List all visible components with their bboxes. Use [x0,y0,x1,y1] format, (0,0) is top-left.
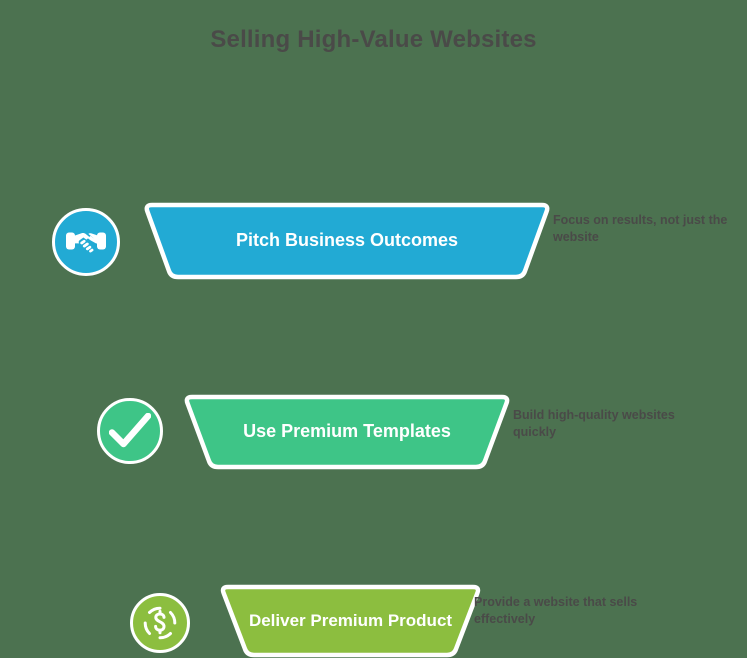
page-title: Selling High-Value Websites [0,26,747,54]
funnel-row-2: Use Premium Templates Build high-quality… [0,196,747,276]
funnel-row-1: Pitch Business Outcomes Focus on results… [0,100,747,182]
funnel-band-3[interactable]: Deliver Premium Product [218,584,483,658]
funnel-row-3: Deliver Premium Product Provide a websit… [0,291,747,369]
dollar-coin-icon [130,593,190,653]
funnel-band-2[interactable]: Use Premium Templates [182,394,512,470]
checkmark-icon [97,398,163,464]
funnel-note-2: Build high-quality websites quickly [513,407,688,441]
infographic-canvas: Selling High-Value Websites [0,0,747,420]
funnel-note-3: Provide a website that sells effectively [474,594,649,628]
